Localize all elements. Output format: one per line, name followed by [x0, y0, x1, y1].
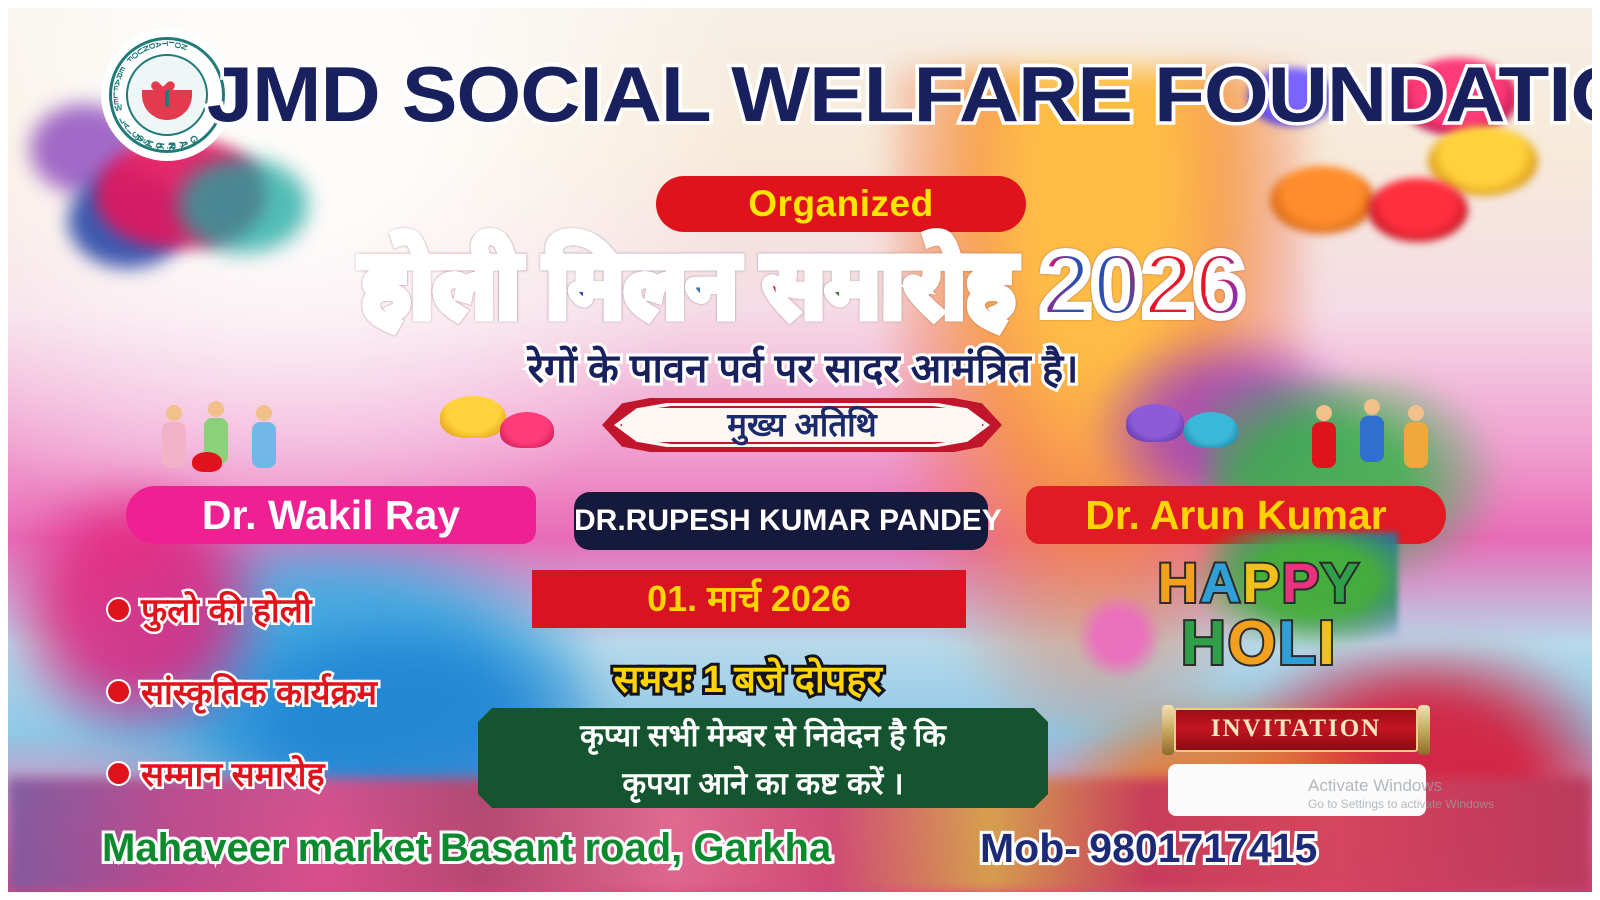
- happy-holi-line-1: HAPPY: [1083, 550, 1433, 615]
- event-date: 01. मार्च 2026: [532, 570, 966, 628]
- bullet-dot-icon: [108, 763, 129, 784]
- holi-event-poster: J.M.D SOCIAL WELFARE FOUNDATION GARKHA J…: [8, 8, 1592, 892]
- windows-activation-watermark: Activate Windows Go to Settings to activ…: [1308, 776, 1578, 812]
- happy-holi-letter: O: [1228, 608, 1276, 679]
- invitation-label: INVITATION: [1166, 708, 1426, 752]
- happy-holi-letter: Y: [1321, 550, 1358, 615]
- list-item: फुलो की होली: [108, 586, 528, 632]
- venue-address: Mahaveer market Basant road, Garkha: [102, 820, 972, 876]
- list-item: सम्मान समारोह: [108, 750, 528, 796]
- powder-bowl-small-yellow: [440, 396, 506, 438]
- organized-badge: Organized: [656, 176, 1026, 232]
- invitation-note-panel: कृप्या सभी मेम्बर से निवेदन है कि कृपया …: [478, 708, 1048, 808]
- program-item-label: सांस्कृतिक कार्यक्रम: [141, 668, 377, 714]
- program-list: फुलो की होली सांस्कृतिक कार्यक्रम सम्मान…: [108, 586, 528, 832]
- happy-holi-line-2: HOLI: [1083, 608, 1433, 679]
- list-item: सांस्कृतिक कार्यक्रम: [108, 668, 528, 714]
- guest-chip-2: DR.RUPESH KUMAR PANDEY: [574, 492, 988, 550]
- contact-mobile: Mob- 9801717415: [980, 820, 1500, 876]
- happy-holi-letter: L: [1278, 608, 1316, 679]
- watermark-line-1: Activate Windows: [1308, 776, 1578, 796]
- happy-holi-letter: A: [1200, 550, 1240, 615]
- invitation-scroll-banner: INVITATION: [1166, 708, 1426, 752]
- chief-guest-label: मुख्य अतिथि: [602, 398, 1002, 452]
- program-item-label: फुलो की होली: [141, 586, 312, 632]
- powder-bowl-orange: [1270, 166, 1375, 234]
- powder-bowl-small-cyan: [1184, 412, 1238, 448]
- bullet-dot-icon: [108, 681, 129, 702]
- happy-holi-letter: H: [1158, 550, 1198, 615]
- happy-holi-letter: I: [1318, 608, 1335, 679]
- event-headline: होली मिलन समारोह 2026: [138, 230, 1468, 340]
- event-date-band: 01. मार्च 2026: [532, 570, 966, 628]
- event-subtitle: रेगों के पावन पर्व पर सादर आमंत्रित है।: [128, 342, 1478, 396]
- happy-holi-letter: P: [1242, 550, 1279, 615]
- bullet-dot-icon: [108, 599, 129, 620]
- chief-guest-banner: मुख्य अतिथि: [602, 398, 1002, 452]
- guest-chip-1: Dr. Wakil Ray: [126, 486, 536, 544]
- powder-bowl-small-pink: [500, 412, 554, 448]
- program-item-label: सम्मान समारोह: [141, 750, 325, 796]
- page-title: JMD SOCIAL WELFARE FOUNDATION: [207, 44, 1470, 144]
- happy-holi-letter: H: [1181, 608, 1226, 679]
- note-line-1: कृप्या सभी मेम्बर से निवेदन है कि: [478, 712, 1048, 760]
- happy-holi-artwork: HAPPY HOLI: [1083, 548, 1433, 693]
- event-time: समयः 1 बजे दोपहर: [508, 653, 988, 707]
- watermark-line-2: Go to Settings to activate Windows: [1308, 796, 1578, 812]
- happy-holi-letter: P: [1282, 550, 1319, 615]
- note-line-2: कृपया आने का कष्ट करें ।: [478, 760, 1048, 808]
- event-headline-text: होली मिलन समारोह 2026: [361, 234, 1245, 336]
- powder-bowl-small-purple: [1126, 404, 1184, 442]
